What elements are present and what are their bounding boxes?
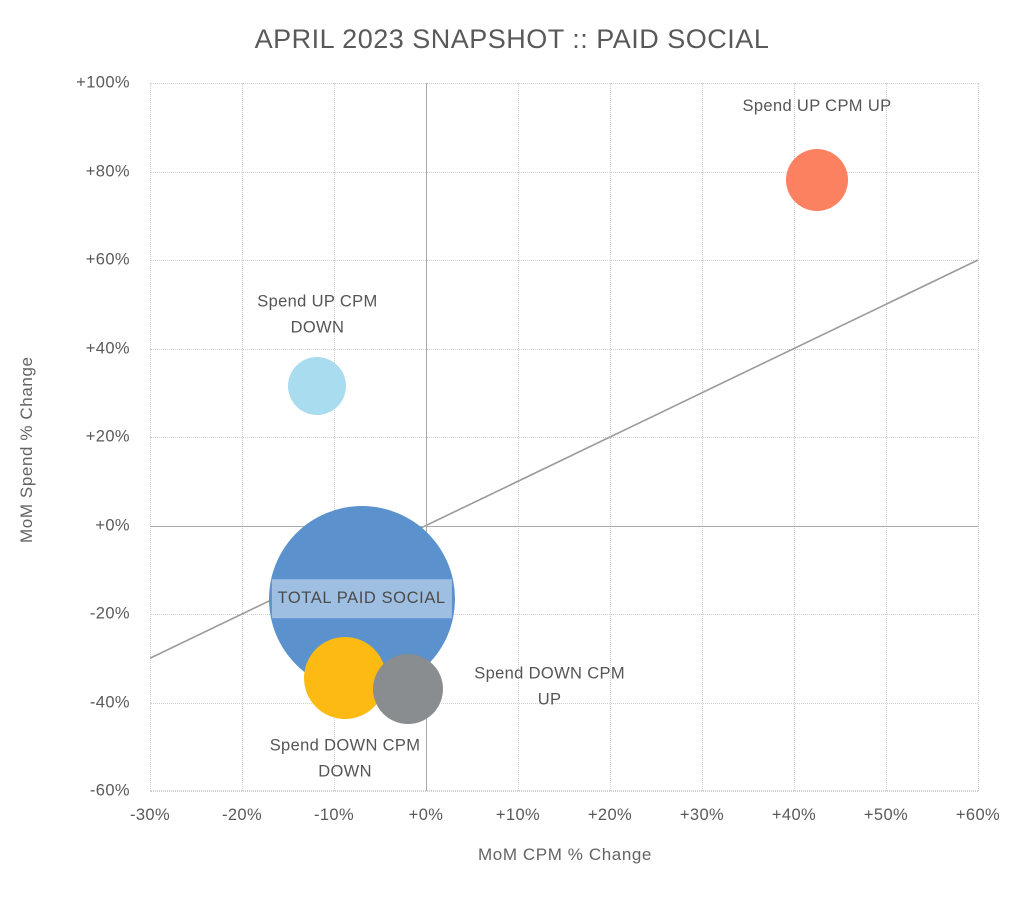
gridline-horizontal bbox=[150, 703, 978, 704]
gridline-horizontal bbox=[150, 437, 978, 438]
axis-zero-horizontal bbox=[150, 526, 978, 527]
bubble-spend-up-cpm-up[interactable] bbox=[786, 149, 848, 211]
x-tick-label: -10% bbox=[314, 806, 354, 825]
x-tick-label: +20% bbox=[588, 806, 632, 825]
y-tick-label: +100% bbox=[76, 74, 130, 93]
x-axis-title: MoM CPM % Change bbox=[150, 845, 980, 865]
y-tick-label: +80% bbox=[86, 162, 130, 181]
y-axis-title: MoM Spend % Change bbox=[12, 300, 42, 600]
y-tick-label: +0% bbox=[95, 516, 130, 535]
x-tick-label: +10% bbox=[496, 806, 540, 825]
y-axis-tick-labels: +100%+80%+60%+40%+20%+0%-20%-40%-60% bbox=[58, 83, 140, 791]
bubble-label-spend-up-cpm-down: Spend UP CPM DOWN bbox=[217, 290, 417, 341]
y-tick-label: -40% bbox=[90, 693, 130, 712]
x-tick-label: -20% bbox=[222, 806, 262, 825]
bubble-spend-down-cpm-up[interactable] bbox=[373, 654, 443, 724]
gridline-horizontal bbox=[150, 83, 978, 84]
y-tick-label: +40% bbox=[86, 339, 130, 358]
y-tick-label: -20% bbox=[90, 605, 130, 624]
y-tick-label: +60% bbox=[86, 251, 130, 270]
bubble-label-spend-down-cpm-down: Spend DOWN CPM DOWN bbox=[245, 734, 445, 785]
bubble-label-spend-down-cpm-up: Spend DOWN CPM UP bbox=[450, 662, 650, 713]
x-tick-label: +0% bbox=[409, 806, 444, 825]
x-tick-label: +60% bbox=[956, 806, 1000, 825]
y-tick-label: -60% bbox=[90, 782, 130, 801]
x-tick-label: +50% bbox=[864, 806, 908, 825]
x-axis-tick-labels: -30%-20%-10%+0%+10%+20%+30%+40%+50%+60% bbox=[150, 806, 978, 836]
gridline-horizontal bbox=[150, 172, 978, 173]
gridline-horizontal bbox=[150, 791, 978, 792]
plot-area: Spend UP CPM UPSpend UP CPM DOWNTOTAL PA… bbox=[150, 83, 978, 791]
bubble-chart: APRIL 2023 SNAPSHOT :: PAID SOCIAL MoM S… bbox=[0, 0, 1024, 900]
x-tick-label: +30% bbox=[680, 806, 724, 825]
page-title: APRIL 2023 SNAPSHOT :: PAID SOCIAL bbox=[0, 24, 1024, 55]
bubble-spend-up-cpm-down[interactable] bbox=[288, 357, 346, 415]
x-tick-label: +40% bbox=[772, 806, 816, 825]
bubble-label-spend-up-cpm-up: Spend UP CPM UP bbox=[717, 95, 917, 121]
gridline-vertical bbox=[978, 83, 979, 791]
gridline-horizontal bbox=[150, 349, 978, 350]
x-tick-label: -30% bbox=[130, 806, 170, 825]
gridline-horizontal bbox=[150, 260, 978, 261]
y-tick-label: +20% bbox=[86, 428, 130, 447]
